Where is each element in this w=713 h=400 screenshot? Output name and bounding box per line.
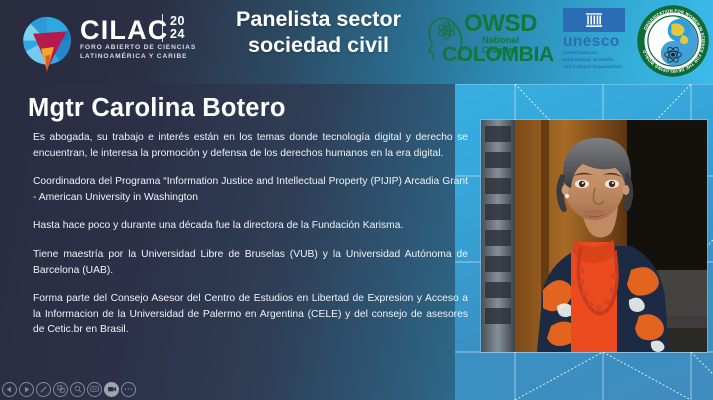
- cilac-logo: CILAC FORO ABIERTO DE CIENCIAS LATINOAMÉ…: [18, 12, 218, 74]
- more-options-button[interactable]: [121, 382, 136, 397]
- bio-paragraph: Tiene maestría por la Universidad Libre …: [33, 247, 468, 278]
- next-slide-button[interactable]: [19, 382, 34, 397]
- cilac-subtitle-2: LATINOAMÉRICA Y CARIBE: [80, 53, 196, 62]
- pen-tools-button[interactable]: [36, 382, 51, 397]
- owsd-colombia-logo: OWSD National Chapter COLOMBIA: [428, 7, 556, 69]
- blank-screen-icon: [90, 385, 99, 393]
- owsd-acronym: OWSD: [464, 12, 537, 36]
- bio-paragraph: Forma parte del Consejo Asesor del Centr…: [33, 291, 468, 338]
- unesco-tagline-2: Educational, Scientific: [563, 58, 635, 64]
- video-camera-icon: [107, 385, 117, 393]
- unesco-emblem-box: [563, 8, 625, 32]
- cilac-year-bottom: 24: [170, 28, 185, 41]
- triangle-right-icon: [23, 386, 30, 393]
- bio-paragraph: Es abogada, su trabajo e interés están e…: [33, 130, 468, 161]
- grid-slides-icon: [57, 385, 65, 393]
- owsd-country: COLOMBIA: [442, 44, 554, 66]
- cilac-year: 20 24: [170, 15, 185, 40]
- bio-paragraph: Coordinadora del Programa “Information J…: [33, 174, 468, 205]
- slideshow-toolbar[interactable]: [2, 380, 136, 398]
- speaker-bio: Es abogada, su trabajo e interés están e…: [33, 130, 468, 338]
- cilac-divider: [162, 14, 163, 42]
- previous-slide-button[interactable]: [2, 382, 17, 397]
- unesco-wordmark: unesco: [563, 34, 635, 50]
- bio-paragraph: Hasta hace poco y durante una década fue…: [33, 218, 468, 234]
- cilac-year-top: 20: [170, 15, 185, 28]
- zoom-in-button[interactable]: [70, 382, 85, 397]
- speaker-name: Mgtr Carolina Botero: [28, 94, 458, 123]
- portrait-image: [481, 120, 707, 352]
- speaker-photo: [481, 120, 707, 352]
- magnifier-icon: [74, 385, 82, 393]
- owsd-globe-seal-icon: ORGANIZATION FOR WOMEN IN SCIENCE FOR TH…: [635, 2, 711, 80]
- black-screen-button[interactable]: [87, 382, 102, 397]
- ellipsis-icon: [124, 387, 133, 391]
- panel-title-line-1: Panelista sector: [206, 6, 431, 32]
- unesco-temple-icon: [585, 11, 603, 29]
- toggle-camera-button[interactable]: [104, 382, 119, 397]
- presentation-slide: CILAC FORO ABIERTO DE CIENCIAS LATINOAMÉ…: [0, 0, 713, 400]
- panel-title: Panelista sector sociedad civil: [206, 6, 431, 58]
- all-slides-button[interactable]: [53, 382, 68, 397]
- pen-icon: [39, 385, 48, 394]
- unesco-tagline-1: United Nations: [563, 51, 635, 57]
- triangle-left-icon: [6, 386, 13, 393]
- cilac-subtitle-1: FORO ABIERTO DE CIENCIAS: [80, 44, 196, 53]
- unesco-tagline-3: and Cultural Organization: [563, 65, 635, 71]
- cilac-circle-logo-icon: [18, 14, 76, 72]
- panel-title-line-2: sociedad civil: [206, 32, 431, 58]
- unesco-logo: unesco United Nations Educational, Scien…: [563, 8, 635, 74]
